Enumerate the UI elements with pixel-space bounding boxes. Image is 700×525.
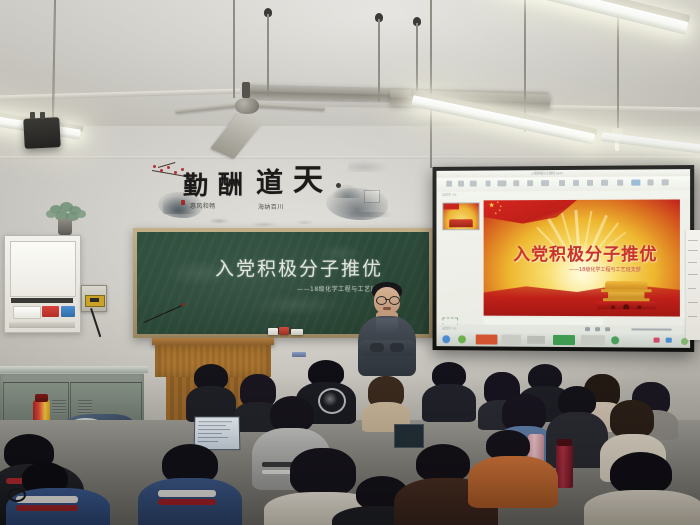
fan-blade-right [253, 103, 325, 111]
hanging-rod-5 [416, 23, 418, 101]
projector-mount-2 [40, 112, 45, 119]
cabinet-sticker-left [13, 306, 41, 319]
student-front-5 [470, 430, 554, 502]
slide-subtitle-text: ——18级化学工程与工艺班支部 [569, 266, 641, 273]
fan-motor-housing [242, 82, 250, 98]
wall-notice-poster [686, 230, 700, 340]
presenter-hand-right [390, 343, 404, 352]
student-eyeglasses [8, 488, 26, 502]
ink-water [346, 212, 392, 217]
electrical-junction-box[interactable] [81, 285, 107, 312]
eyeglasses-bridge [385, 299, 389, 300]
calligraphy-char-tian: 天 [293, 166, 323, 196]
chalk-box-red[interactable] [279, 327, 289, 335]
slide-thumbnail-1[interactable] [442, 202, 479, 230]
eyeglasses-right [389, 296, 400, 305]
hanging-rod-4 [378, 19, 380, 101]
hanging-rod-6 [430, 0, 432, 168]
calligraphy-seal [181, 200, 185, 205]
classroom-photo: 天 道 酬 勤 惠风和畅 海纳百川 入党积极分子推优 ——18级化学工程与工艺班… [0, 0, 700, 525]
chalk-box-white[interactable] [268, 328, 278, 335]
thermos-cap-2 [557, 439, 572, 446]
ppt-status-label: 幻灯片 1/1 [442, 193, 457, 197]
ppt-slide-counter: 幻灯片 1/1 [442, 326, 457, 330]
ceiling-fan [175, 96, 325, 146]
wall-cabinet[interactable] [4, 235, 81, 333]
presenter-hand-left [370, 343, 384, 352]
cabinet-sticker-red [42, 306, 59, 317]
student-back-5 [424, 362, 472, 420]
calligraphy-char-chou: 酬 [218, 172, 243, 197]
dark-red-thermos[interactable] [556, 444, 573, 488]
ink-stroke-b [250, 222, 278, 227]
student-front-left-2 [14, 462, 110, 525]
student-front-1 [144, 444, 240, 525]
ink-stroke-c [296, 220, 314, 225]
seated-students [0, 358, 700, 525]
hanging-rod-3 [267, 14, 269, 96]
fan-hub [235, 98, 259, 114]
ceiling-projector [23, 117, 61, 149]
ink-stroke-a [208, 218, 230, 224]
ppt-ribbon[interactable] [436, 176, 690, 192]
blackboard-title-text: 入党积极分子推优 [215, 254, 383, 281]
chalk-box-spare[interactable] [291, 329, 303, 335]
microphone-stand[interactable] [143, 305, 182, 323]
lectern-top [152, 338, 274, 345]
junction-box-switch[interactable] [90, 298, 99, 302]
student-front-6 [584, 452, 700, 525]
cabinet-sticker-blue [61, 306, 75, 317]
cabinet-slot [11, 298, 73, 303]
tiananmen-gate-motif [597, 281, 656, 309]
ink-cloud [348, 160, 388, 172]
student-back-4 [364, 376, 408, 426]
wall-green-marker [681, 338, 688, 345]
calligraphy-inscription-left: 惠风和畅 [190, 201, 216, 210]
slide-title-text: 入党积极分子推优 [513, 240, 657, 265]
microphone-head[interactable] [181, 303, 185, 306]
cabinet-panel [10, 241, 76, 297]
powerpoint-slide[interactable]: ★ ★ ★ ★ ★ [484, 199, 680, 316]
presenter-crossed-arms [358, 340, 416, 356]
student-back-1 [188, 364, 234, 420]
projector-screen-frame: 入党积极分子推优.pptx 幻灯片 1/ [433, 165, 695, 352]
projector-mount [30, 112, 35, 119]
eyeglasses-left [376, 296, 387, 305]
potted-plant [44, 205, 86, 237]
hanging-rod-2 [233, 0, 235, 98]
calligraphy-char-dao: 道 [256, 170, 283, 197]
calligraphy-inscription-right: 海纳百川 [258, 202, 284, 211]
ppt-document-tab: 入党积极分子推优.pptx [531, 171, 563, 175]
board-eraser[interactable] [292, 352, 306, 357]
cabinet-base-strip [9, 322, 75, 328]
presenter-mouth [383, 307, 391, 310]
calligraphy-char-qin: 勤 [183, 173, 208, 198]
ppt-subtoolbar: 幻灯片 1/1 [436, 190, 690, 198]
presenter-hood [376, 318, 398, 334]
windows-taskbar[interactable] [436, 332, 690, 348]
ink-pine [332, 184, 362, 198]
projected-display[interactable]: 入党积极分子推优.pptx 幻灯片 1/ [436, 169, 690, 348]
